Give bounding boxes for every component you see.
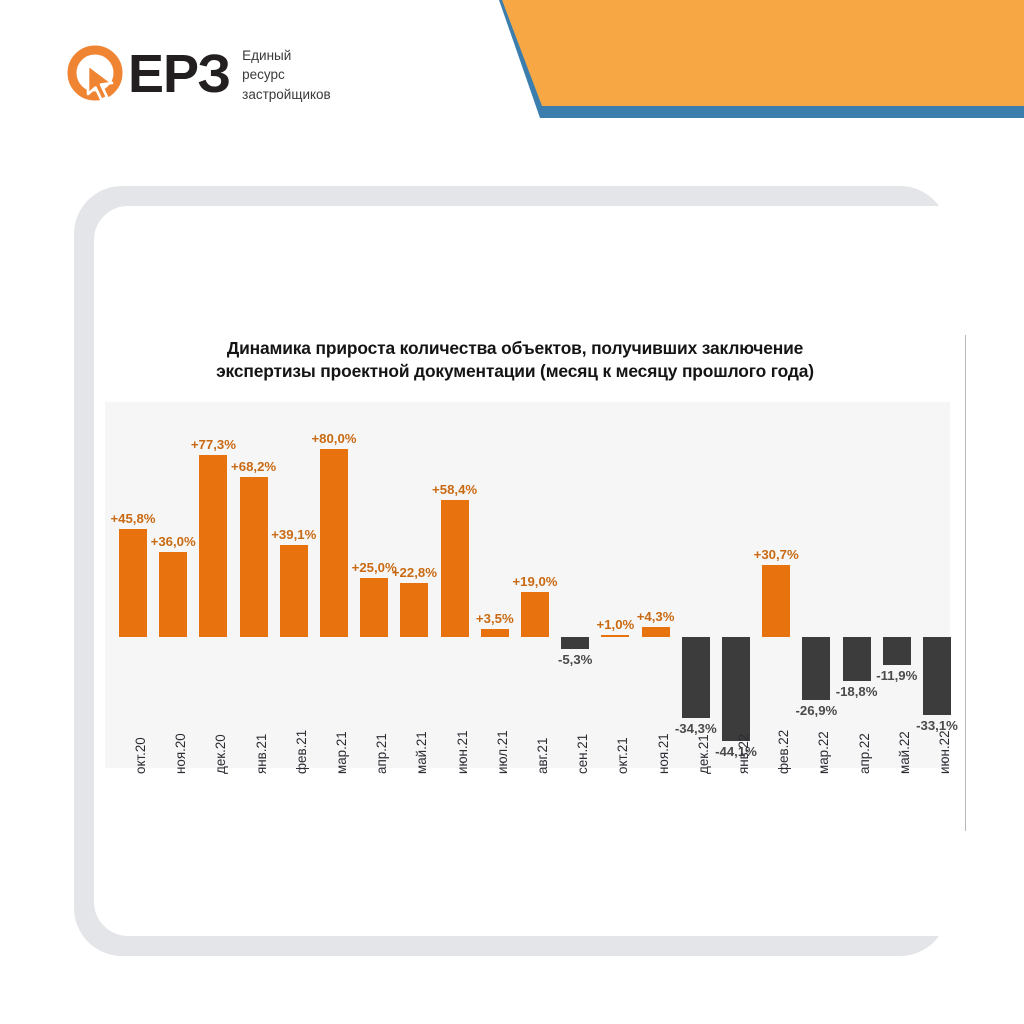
chart-container: Динамика прироста количества объектов, п… (105, 330, 950, 840)
brand-tagline: Единый ресурс застройщиков (242, 44, 331, 103)
chart-x-axis-label: мар.22 (816, 731, 831, 774)
chart-x-axis-label: авг.21 (535, 738, 550, 774)
chart-bar[interactable] (682, 637, 710, 718)
right-divider-line (965, 335, 966, 831)
chart-column: +19,0%авг.21 (515, 402, 555, 768)
brand-tagline-line-1: Единый (242, 46, 331, 65)
chart-bar[interactable] (642, 627, 670, 637)
brand-tagline-line-2: ресурс (242, 65, 331, 84)
chart-column: -5,3%сен.21 (555, 402, 595, 768)
banner-orange-shape (488, 0, 1024, 112)
chart-bar[interactable] (481, 629, 509, 637)
chart-bar[interactable] (722, 637, 750, 741)
chart-bar[interactable] (280, 545, 308, 637)
chart-x-axis-label: янв.22 (736, 734, 751, 774)
chart-x-axis-label: апр.21 (374, 733, 389, 774)
chart-column: -18,8%апр.22 (837, 402, 877, 768)
chart-x-axis-label: июн.21 (455, 730, 470, 774)
chart-bar[interactable] (601, 635, 629, 637)
chart-bar[interactable] (159, 552, 187, 637)
chart-bar[interactable] (240, 477, 268, 637)
q-cursor-logo-icon (64, 43, 126, 105)
chart-x-axis-label: фев.21 (294, 730, 309, 774)
chart-bar[interactable] (400, 583, 428, 637)
chart-plot-area: +45,8%окт.20+36,0%ноя.20+77,3%дек.20+68,… (105, 402, 950, 768)
chart-bar[interactable] (521, 592, 549, 637)
chart-column: +4,3%ноя.21 (636, 402, 676, 768)
brand-logo: ЕРЗ Единый ресурс застройщиков (64, 38, 331, 110)
chart-column: +45,8%окт.20 (113, 402, 153, 768)
chart-x-axis-label: ноя.20 (173, 733, 188, 774)
chart-bar[interactable] (199, 455, 227, 637)
chart-column: -33,1%июн.22 (917, 402, 957, 768)
chart-x-axis-label: апр.22 (857, 733, 872, 774)
chart-column: +25,0%апр.21 (354, 402, 394, 768)
chart-column: -44,1%янв.22 (716, 402, 756, 768)
chart-bar[interactable] (561, 637, 589, 649)
chart-bar[interactable] (360, 578, 388, 637)
chart-bar[interactable] (320, 449, 348, 637)
chart-column: -34,3%дек.21 (676, 402, 716, 768)
chart-x-axis-label: окт.21 (615, 737, 630, 774)
chart-column: +1,0%окт.21 (595, 402, 635, 768)
chart-x-axis-label: фев.22 (776, 730, 791, 774)
header-banner (488, 0, 1024, 122)
chart-title-line-2: экспертизы проектной документации (месяц… (105, 360, 925, 383)
chart-x-axis-label: май.22 (897, 731, 912, 774)
chart-column: +68,2%янв.21 (234, 402, 274, 768)
brand-tagline-line-3: застройщиков (242, 85, 331, 104)
chart-x-axis-label: окт.20 (133, 737, 148, 774)
chart-bar[interactable] (762, 565, 790, 637)
chart-x-axis-label: мар.21 (334, 731, 349, 774)
chart-title: Динамика прироста количества объектов, п… (105, 337, 925, 383)
chart-x-axis-label: дек.20 (213, 734, 228, 774)
chart-bar[interactable] (883, 637, 911, 665)
chart-x-axis-label: май.21 (414, 731, 429, 774)
poster-root: ЕРЗ Единый ресурс застройщиков Динамика … (0, 0, 1024, 1024)
chart-column: -26,9%мар.22 (796, 402, 836, 768)
chart-column: -11,9%май.22 (877, 402, 917, 768)
chart-column: +77,3%дек.20 (193, 402, 233, 768)
chart-x-axis-label: июн.22 (937, 730, 952, 774)
brand-wordmark: ЕРЗ (128, 47, 230, 101)
chart-bar[interactable] (923, 637, 951, 715)
chart-column: +80,0%мар.21 (314, 402, 354, 768)
chart-column: +39,1%фев.21 (274, 402, 314, 768)
chart-column: +36,0%ноя.20 (153, 402, 193, 768)
chart-x-axis-label: сен.21 (575, 734, 590, 774)
chart-x-axis-label: янв.21 (254, 734, 269, 774)
chart-title-line-1: Динамика прироста количества объектов, п… (105, 337, 925, 360)
chart-x-axis-label: ноя.21 (656, 733, 671, 774)
chart-column: +22,8%май.21 (394, 402, 434, 768)
chart-x-axis-label: июл.21 (495, 730, 510, 774)
chart-column: +58,4%июн.21 (435, 402, 475, 768)
